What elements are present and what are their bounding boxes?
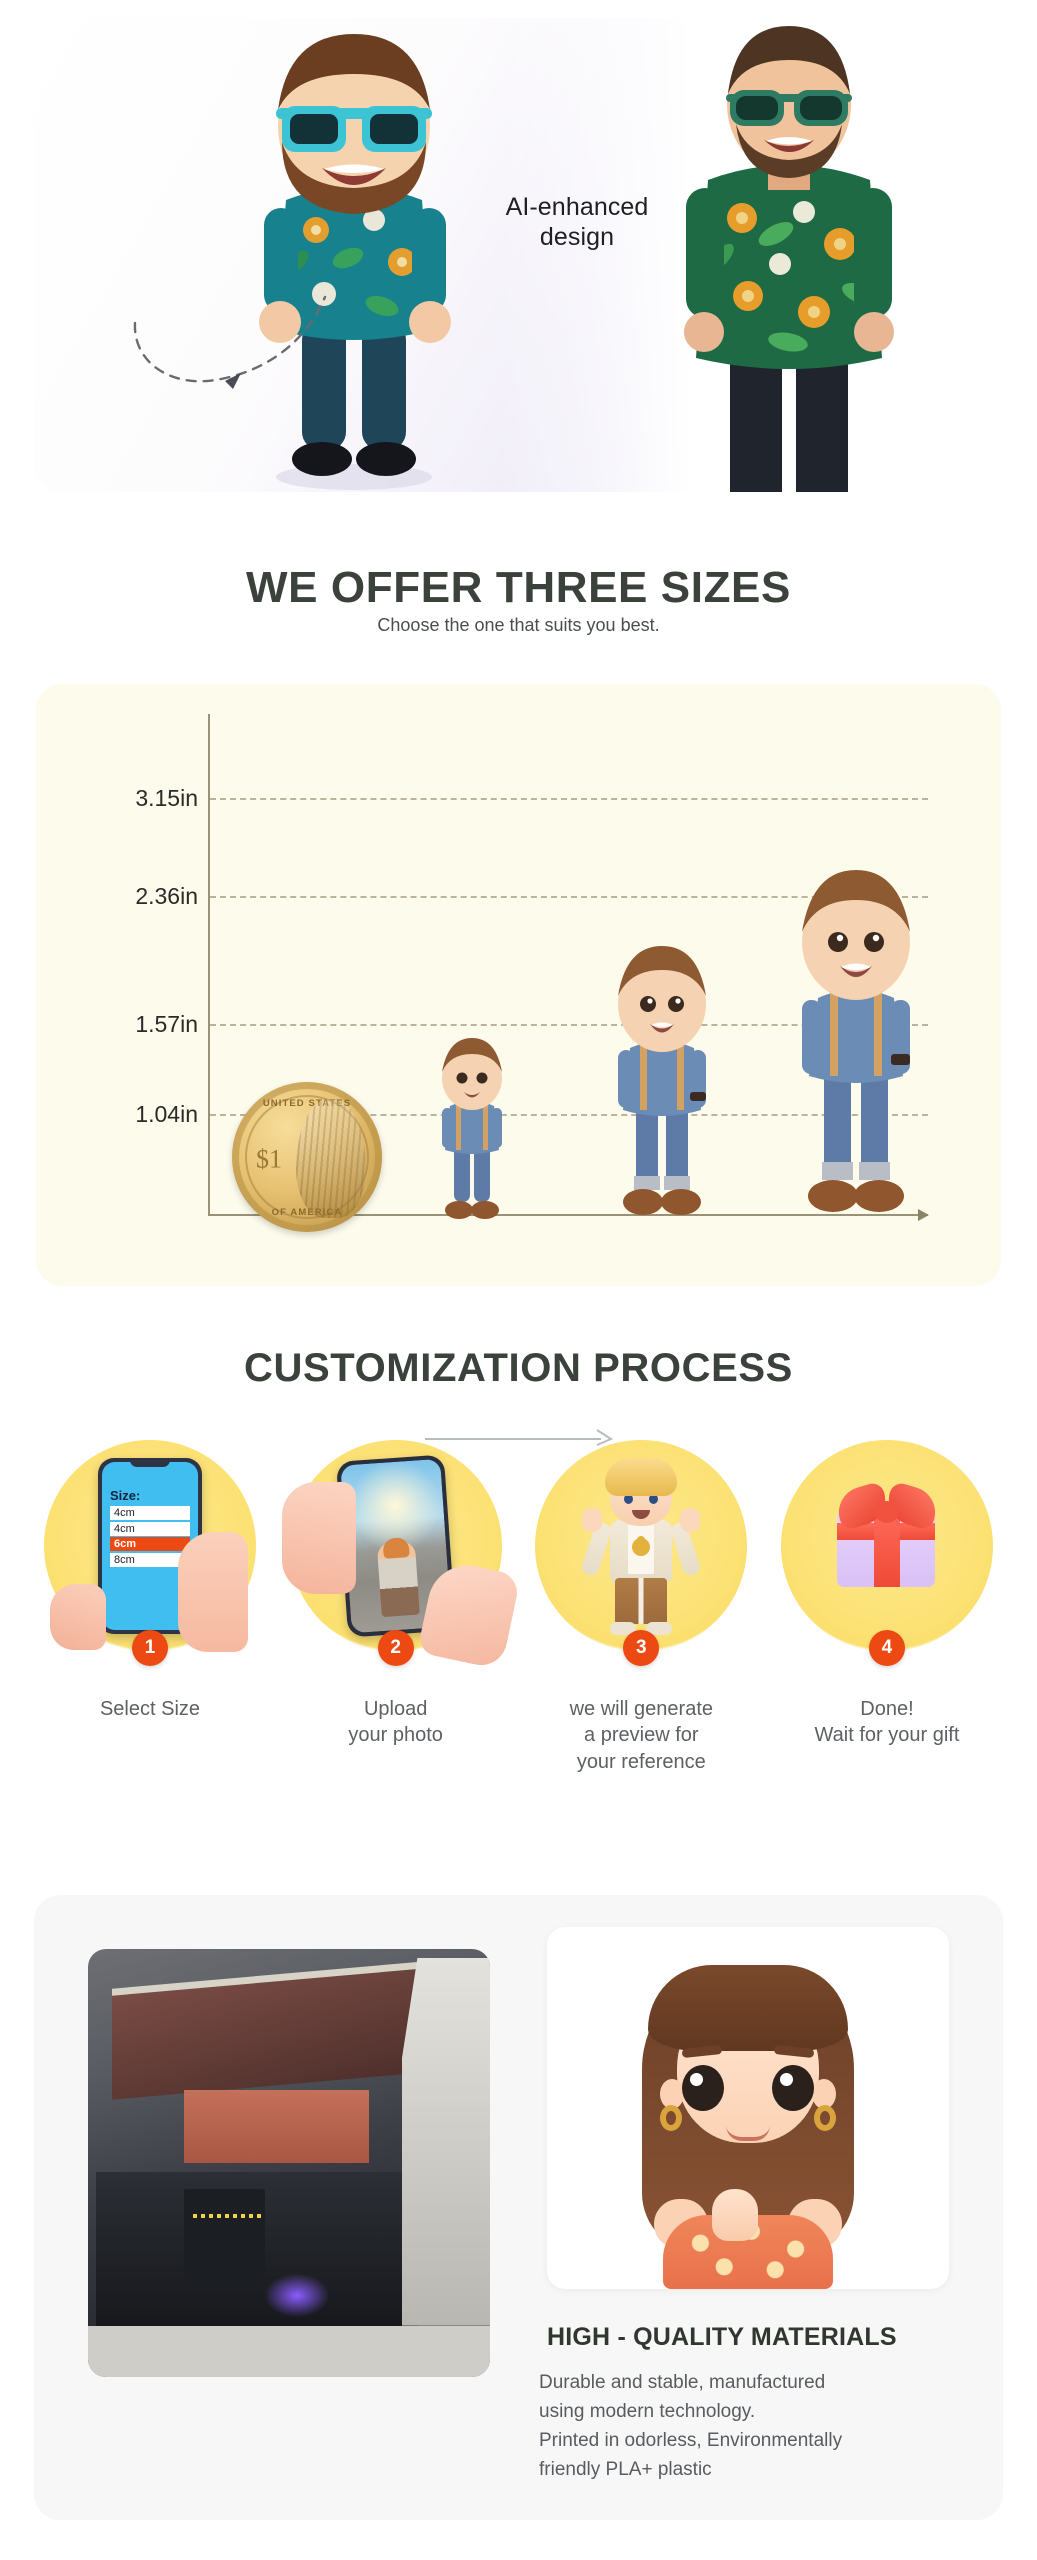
statue-of-liberty-icon: [296, 1100, 366, 1218]
materials-section: HIGH - QUALITY MATERIALS Durable and sta…: [34, 1895, 1003, 2520]
toy-figurine-man-hawaiian-shirt: [224, 22, 484, 492]
process-steps: Size: 4cm 4cm 6cm 8cm 1 Select Size 2: [34, 1440, 1003, 1870]
step-label: Select Size: [100, 1696, 200, 1722]
size-option[interactable]: 4cm: [110, 1522, 190, 1536]
size-option-selected[interactable]: 6cm: [110, 1537, 190, 1551]
process-section-title: CUSTOMIZATION PROCESS: [0, 1346, 1037, 1391]
size-comparison-chart: 3.15in 2.36in 1.57in 1.04in UNITED STATE…: [36, 684, 1001, 1286]
hand-holding-gift-icon: 4: [781, 1440, 993, 1652]
figurine-size-large: [776, 864, 936, 1230]
step-number-badge: 2: [378, 1630, 414, 1666]
step-label: Upload your photo: [348, 1696, 443, 1749]
process-step-2[interactable]: 2 Upload your photo: [280, 1440, 512, 1870]
figurine-size-small: [426, 1034, 518, 1230]
size-option[interactable]: 4cm: [110, 1506, 190, 1520]
uv-3d-printer-photo: [88, 1949, 490, 2377]
step-number-badge: 1: [132, 1630, 168, 1666]
process-step-3[interactable]: 3 we will generate a preview for your re…: [525, 1440, 757, 1870]
photo-man-hawaiian-shirt: [664, 18, 914, 492]
coin-top-text: UNITED STATES: [232, 1098, 382, 1109]
sizes-section-title: WE OFFER THREE SIZES: [0, 563, 1037, 613]
dashed-curved-arrow-icon: [129, 273, 379, 403]
girl-figurine-photo: [547, 1927, 949, 2289]
hero-annotation-text: AI-enhanced design: [477, 193, 677, 252]
materials-description: Durable and stable, manufactured using m…: [539, 2369, 949, 2485]
sizes-section-subtitle: Choose the one that suits you best.: [0, 615, 1037, 636]
chart-y-tick-label: 3.15in: [78, 785, 198, 812]
materials-title: HIGH - QUALITY MATERIALS: [547, 2323, 949, 2352]
hero-banner: AI-enhanced design: [34, 18, 1003, 492]
figurine-preview-icon: 3: [535, 1440, 747, 1652]
step-label: Done! Wait for your gift: [815, 1696, 960, 1749]
chart-y-tick-label: 2.36in: [78, 883, 198, 910]
chart-gridline: [210, 798, 928, 800]
step-label: we will generate a preview for your refe…: [570, 1696, 713, 1775]
figurine-size-medium: [596, 940, 728, 1230]
process-step-1[interactable]: Size: 4cm 4cm 6cm 8cm 1 Select Size: [34, 1440, 266, 1870]
chart-y-tick-label: 1.04in: [78, 1101, 198, 1128]
chart-y-axis: [208, 714, 210, 1216]
process-step-4[interactable]: 4 Done! Wait for your gift: [771, 1440, 1003, 1870]
hand-holding-phone-size-picker-icon: Size: 4cm 4cm 6cm 8cm 1: [44, 1440, 256, 1652]
dollar-coin-reference: UNITED STATES OF AMERICA $1: [232, 1082, 382, 1232]
coin-denomination: $1: [256, 1144, 282, 1174]
hand-holding-phone-photo-icon: 2: [290, 1440, 502, 1652]
phone-size-label: Size:: [110, 1488, 190, 1503]
chart-y-tick-label: 1.57in: [78, 1011, 198, 1038]
step-number-badge: 4: [869, 1630, 905, 1666]
step-number-badge: 3: [623, 1630, 659, 1666]
